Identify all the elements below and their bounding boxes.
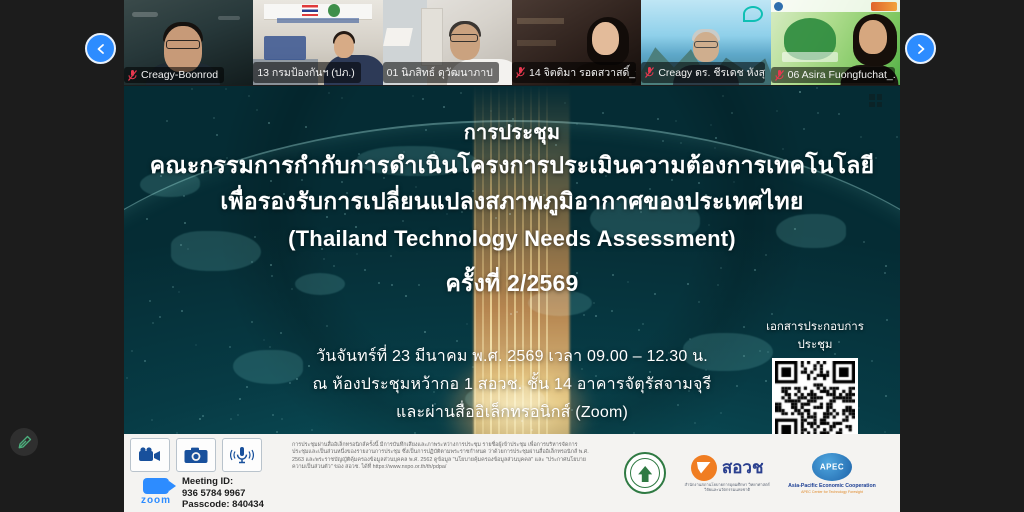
shared-screen[interactable]: การประชุม คณะกรรมการกำกับการดำเนินโครงกา… [124, 86, 900, 512]
chevron-right-icon [915, 43, 927, 55]
zoom-meeting-window: Creagy-Boonrod 13 กรมป้องกันฯ (ปภ.) 01 น… [0, 0, 1024, 512]
filmstrip-prev-button[interactable] [85, 33, 116, 64]
qr-code[interactable] [772, 358, 858, 444]
microphone-glyph [230, 446, 254, 464]
zoom-logo: zoom [134, 478, 178, 506]
mic-muted-icon [645, 67, 654, 78]
meeting-id-value: 936 5784 9967 [182, 488, 264, 500]
grid-icon[interactable] [869, 94, 882, 107]
slide-title-line-5: ครั้งที่ 2/2569 [124, 266, 900, 302]
slide-footer: zoom Meeting ID: 936 5784 9967 Passcode:… [124, 434, 900, 512]
microphone-icon[interactable] [222, 438, 262, 472]
participant-name: 13 กรมป้องกันฯ (ปภ.) [257, 64, 354, 81]
participant-tile[interactable]: 06 Asira Fuongfuchat_... [771, 0, 900, 85]
apec-logo: APEC Asia-Pacific Economic Cooperation A… [788, 453, 876, 494]
annotate-button[interactable] [10, 428, 38, 456]
sovoch-wordmark: สอวช [722, 454, 764, 481]
participant-namebar: 06 Asira Fuongfuchat_... [771, 67, 895, 83]
sovoch-logo: สอวช สำนักงานสภานโยบายการอุดมศึกษา วิทยา… [684, 454, 770, 492]
participant-name: 06 Asira Fuongfuchat_... [788, 69, 895, 81]
video-camera-icon[interactable] [130, 438, 170, 472]
participant-name: 01 นิภสิทธ์ ดุวัฒนาภาป [387, 64, 493, 81]
participant-tile[interactable]: 01 นิภสิทธ์ ดุวัฒนาภาป [383, 0, 512, 85]
privacy-notice: การประชุมผ่านสื่ออิเล็กทรอนิกส์ครั้งนี้ … [284, 434, 600, 512]
qr-block: เอกสารประกอบการประชุม [754, 318, 876, 444]
participant-namebar: 14 จิตติมา รอดสวาสดิ์_กร... [512, 62, 636, 83]
mic-muted-icon [516, 67, 525, 78]
slide-title-line-2: คณะกรรมการกำกับการดำเนินโครงการประเมินคว… [124, 148, 900, 184]
apec-globe-icon: APEC [812, 453, 852, 481]
participant-filmstrip: Creagy-Boonrod 13 กรมป้องกันฯ (ปภ.) 01 น… [124, 0, 900, 85]
participant-name: Creagy ดร. ชีรเดช หังสุบุตร [658, 64, 765, 81]
photo-camera-icon[interactable] [176, 438, 216, 472]
footer-logos: สอวช สำนักงานสภานโยบายการอุดมศึกษา วิทยา… [600, 434, 900, 512]
meeting-passcode: Passcode: 840434 [182, 499, 264, 511]
participant-name: Creagy-Boonrod [141, 69, 218, 81]
mic-muted-icon [128, 70, 137, 81]
participant-namebar: 01 นิภสิทธ์ ดุวัฒนาภาป [383, 62, 499, 83]
sovoch-subtitle: สำนักงานสภานโยบายการอุดมศึกษา วิทยาศาสตร… [684, 482, 770, 492]
sovoch-mark-icon [691, 455, 717, 481]
participant-tile[interactable]: 13 กรมป้องกันฯ (ปภ.) [253, 0, 382, 85]
pencil-icon [17, 435, 32, 450]
slide-title-line-4: (Thailand Technology Needs Assessment) [124, 226, 900, 252]
mic-muted-icon [775, 70, 784, 81]
participant-tile[interactable]: Creagy-Boonrod [124, 0, 253, 85]
photo-camera-glyph [184, 447, 208, 464]
slide-title-line-3: เพื่อรองรับการเปลี่ยนแปลงสภาพภูมิอากาศขอ… [124, 184, 900, 220]
slide-title-line-1: การประชุม [124, 116, 900, 148]
apec-center: APEC Center for Technology Foresight [801, 490, 863, 494]
chevron-left-icon [95, 43, 107, 55]
participant-namebar: Creagy-Boonrod [124, 67, 224, 83]
participant-namebar: 13 กรมป้องกันฯ (ปภ.) [253, 62, 360, 83]
ministry-seal-logo [624, 452, 666, 494]
qr-caption: เอกสารประกอบการประชุม [754, 318, 876, 354]
filmstrip-next-button[interactable] [905, 33, 936, 64]
zoom-wordmark: zoom [134, 495, 178, 506]
meeting-credentials: Meeting ID: 936 5784 9967 Passcode: 8404… [182, 476, 264, 511]
participant-tile[interactable]: Creagy ดร. ชีรเดช หังสุบุตร [641, 0, 770, 85]
footer-media-block: zoom Meeting ID: 936 5784 9967 Passcode:… [124, 434, 284, 512]
video-camera-glyph [138, 447, 162, 463]
participant-tile[interactable]: 14 จิตติมา รอดสวาสดิ์_กร... [512, 0, 641, 85]
apec-word: APEC [820, 462, 844, 471]
meeting-id-label: Meeting ID: [182, 476, 264, 488]
zoom-camera-icon [143, 478, 169, 494]
participant-name: 14 จิตติมา รอดสวาสดิ์_กร... [529, 64, 636, 81]
apec-name: Asia-Pacific Economic Cooperation [788, 483, 876, 489]
participant-namebar: Creagy ดร. ชีรเดช หังสุบุตร [641, 62, 765, 83]
